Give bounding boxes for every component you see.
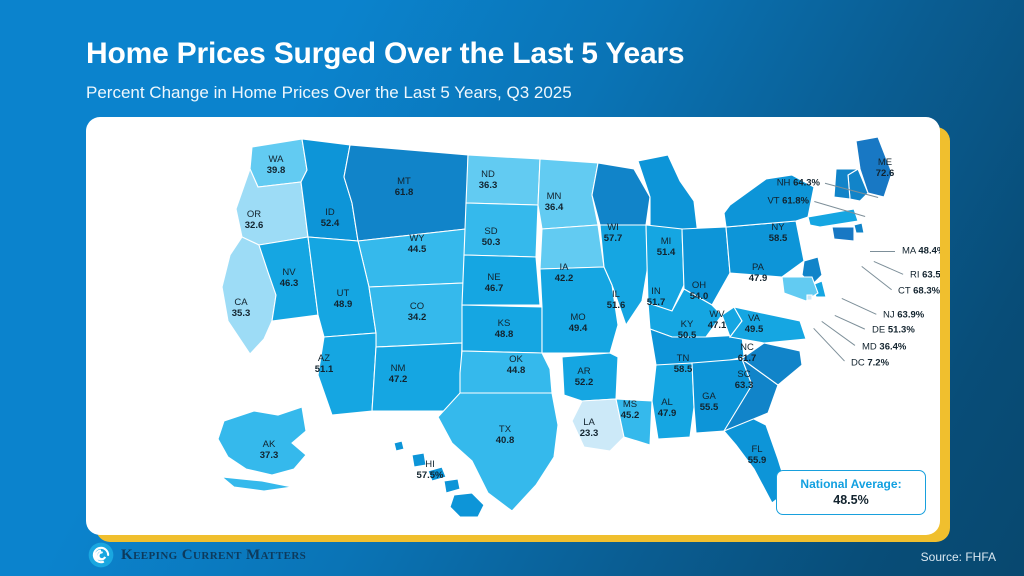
state-label-la: LA23.3 [580,417,599,439]
state-value: 34.2 [408,312,427,323]
state-callout-ma: MA 48.4% [902,246,940,257]
state-abbr: AZ [315,353,334,364]
state-shape-hi-0 [394,441,404,451]
state-value: 39.8 [267,165,286,176]
state-label-fl: FL55.9 [748,444,767,466]
state-label-mo: MO49.4 [569,312,588,334]
state-value: 58.5 [769,233,788,244]
national-average-box: National Average: 48.5% [776,470,926,515]
state-abbr: MS [621,399,640,410]
state-value: 47.2 [389,374,408,385]
state-label-wv: WV47.1 [708,309,727,331]
state-abbr: NC [738,342,757,353]
state-shape-tx [438,393,558,511]
state-label-ok: OK44.8 [507,354,526,376]
state-shape-md [782,277,818,301]
state-value: 51.7 [647,297,666,308]
state-abbr: WI [604,222,623,233]
state-label-al: AL47.9 [658,397,677,419]
state-label-id: ID52.4 [321,207,340,229]
state-abbr: ID [321,207,340,218]
state-shape-nd [466,155,540,205]
state-abbr: CO [408,301,427,312]
state-label-hi: HI57.5% [417,459,444,481]
state-callout-de: DE 51.3% [872,325,915,336]
state-abbr: KY [678,319,697,330]
state-label-nc: NC61.7 [738,342,757,364]
state-value: 51.1 [315,364,334,375]
state-abbr: NJ [883,310,897,321]
callout-leader-line-ma [870,251,895,252]
state-value: 7.2% [867,358,889,369]
state-label-va: VA49.5 [745,313,764,335]
state-abbr: MN [545,191,564,202]
state-abbr: MD [862,342,879,353]
state-value: 44.5 [408,244,427,255]
state-label-ca: CA35.3 [232,297,251,319]
state-label-ak: AK37.3 [260,439,279,461]
state-abbr: NY [769,222,788,233]
state-value: 32.6 [245,220,264,231]
state-label-ms: MS45.2 [621,399,640,421]
state-abbr: MI [657,236,676,247]
state-value: 47.9 [658,408,677,419]
state-label-mi: MI51.4 [657,236,676,258]
state-shape-nm [372,343,462,411]
state-label-ny: NY58.5 [769,222,788,244]
state-value: 48.8 [495,329,514,340]
state-label-or: OR32.6 [245,209,264,231]
state-label-co: CO34.2 [408,301,427,323]
state-label-sc: SC63.3 [735,369,754,391]
state-value: 57.5% [417,470,444,481]
state-shape-sd [464,203,538,257]
state-value: 47.9 [749,273,768,284]
state-shape-ak-aleutians [222,477,292,491]
state-value: 37.3 [260,450,279,461]
state-callout-dc: DC 7.2% [851,358,889,369]
state-value: 48.9 [334,299,353,310]
state-value: 46.7 [485,283,504,294]
state-value: 61.7 [738,353,757,364]
state-shape-ri [854,223,864,233]
state-label-nv: NV46.3 [280,267,299,289]
state-label-wi: WI57.7 [604,222,623,244]
state-shape-ct [832,227,854,241]
state-label-ar: AR52.2 [575,366,594,388]
state-value: 47.1 [708,320,727,331]
state-value: 40.8 [496,435,515,446]
state-abbr: SD [482,226,501,237]
state-value: 51.6 [607,300,626,311]
state-value: 52.4 [321,218,340,229]
source-attribution: Source: FHFA [921,549,996,565]
brand-name: Keeping Current Matters [121,546,306,564]
state-label-ne: NE46.7 [485,272,504,294]
state-value: 55.9 [748,455,767,466]
state-value: 63.9% [897,310,924,321]
state-label-me: ME72.6 [876,157,895,179]
state-abbr: DC [851,358,867,369]
state-label-az: AZ51.1 [315,353,334,375]
state-callout-nj: NJ 63.9% [883,310,924,321]
state-abbr: CA [232,297,251,308]
state-abbr: AK [260,439,279,450]
state-shape-hi-3 [444,479,460,493]
state-callout-md: MD 36.4% [862,342,906,353]
state-abbr: MO [569,312,588,323]
map-card: WA39.8OR32.6CA35.3NV46.3ID52.4MT61.8WY44… [86,117,940,535]
state-abbr: RI [910,270,922,281]
state-value: 58.5 [674,364,693,375]
state-abbr: LA [580,417,599,428]
state-value: 36.4 [545,202,564,213]
state-label-oh: OH54.0 [690,280,709,302]
state-value: 63.5% [922,270,940,281]
state-abbr: ME [876,157,895,168]
state-abbr: MA [902,246,918,257]
state-abbr: OH [690,280,709,291]
state-abbr: VA [745,313,764,324]
state-abbr: GA [700,391,719,402]
state-abbr: MT [395,176,414,187]
state-value: 48.4% [918,246,940,257]
state-label-tn: TN58.5 [674,353,693,375]
state-shape-va [730,307,806,343]
state-value: 51.4 [657,247,676,258]
state-label-ky: KY50.5 [678,319,697,341]
state-value: 52.2 [575,377,594,388]
state-value: 23.3 [580,428,599,439]
state-value: 64.3% [793,178,820,189]
state-abbr: DE [872,325,888,336]
state-abbr: IN [647,286,666,297]
state-abbr: ND [479,169,498,180]
state-abbr: WV [708,309,727,320]
state-label-nm: NM47.2 [389,363,408,385]
state-abbr: KS [495,318,514,329]
state-abbr: NH [777,178,793,189]
state-abbr: SC [735,369,754,380]
page-subtitle: Percent Change in Home Prices Over the L… [86,82,946,104]
state-abbr: IL [607,289,626,300]
state-label-wa: WA39.8 [267,154,286,176]
state-value: 57.7 [604,233,623,244]
state-label-wy: WY44.5 [408,233,427,255]
state-callout-ct: CT 68.3% [898,286,940,297]
state-label-ks: KS48.8 [495,318,514,340]
state-value: 36.4% [879,342,906,353]
state-label-nd: ND36.3 [479,169,498,191]
state-abbr: CT [898,286,913,297]
state-abbr: HI [417,459,444,470]
state-value: 72.6 [876,168,895,179]
state-abbr: UT [334,288,353,299]
state-abbr: OR [245,209,264,220]
state-callout-vt: VT 61.8% [767,196,809,207]
state-value: 55.5 [700,402,719,413]
state-abbr: IA [555,262,574,273]
page-title: Home Prices Surged Over the Last 5 Years [86,36,946,72]
state-value: 36.3 [479,180,498,191]
state-label-mn: MN36.4 [545,191,564,213]
national-average-label: National Average: [777,477,925,492]
brand-logo: Keeping Current Matters [88,542,306,568]
state-callout-nh: NH 64.3% [777,178,820,189]
state-value: 68.3% [913,286,940,297]
state-label-mt: MT61.8 [395,176,414,198]
state-label-sd: SD50.3 [482,226,501,248]
national-average-value: 48.5% [777,493,925,508]
state-abbr: OK [507,354,526,365]
state-value: 45.2 [621,410,640,421]
state-abbr: FL [748,444,767,455]
state-label-ga: GA55.5 [700,391,719,413]
state-value: 51.3% [888,325,915,336]
state-abbr: VT [767,196,782,207]
state-abbr: WA [267,154,286,165]
state-label-ut: UT48.9 [334,288,353,310]
state-abbr: AR [575,366,594,377]
state-value: 42.2 [555,273,574,284]
state-value: 63.3 [735,380,754,391]
state-abbr: NV [280,267,299,278]
state-label-ia: IA42.2 [555,262,574,284]
state-value: 49.4 [569,323,588,334]
state-label-in: IN51.7 [647,286,666,308]
state-abbr: TX [496,424,515,435]
state-value: 50.5 [678,330,697,341]
state-label-pa: PA47.9 [749,262,768,284]
state-value: 44.8 [507,365,526,376]
state-abbr: WY [408,233,427,244]
state-abbr: TN [674,353,693,364]
header: Home Prices Surged Over the Last 5 Years… [86,36,946,104]
state-abbr: NM [389,363,408,374]
state-value: 35.3 [232,308,251,319]
state-value: 54.0 [690,291,709,302]
state-callout-ri: RI 63.5% [910,270,940,281]
state-label-tx: TX40.8 [496,424,515,446]
state-abbr: NE [485,272,504,283]
spiral-swirl-icon [88,542,114,568]
state-value: 46.3 [280,278,299,289]
state-value: 61.8% [782,196,809,207]
state-label-il: IL51.6 [607,289,626,311]
state-shape-hi-4 [450,493,484,517]
state-shape-dc [807,295,812,300]
map-container: WA39.8OR32.6CA35.3NV46.3ID52.4MT61.8WY44… [86,117,940,535]
state-value: 49.5 [745,324,764,335]
state-abbr: PA [749,262,768,273]
state-value: 61.8 [395,187,414,198]
state-abbr: AL [658,397,677,408]
state-value: 50.3 [482,237,501,248]
